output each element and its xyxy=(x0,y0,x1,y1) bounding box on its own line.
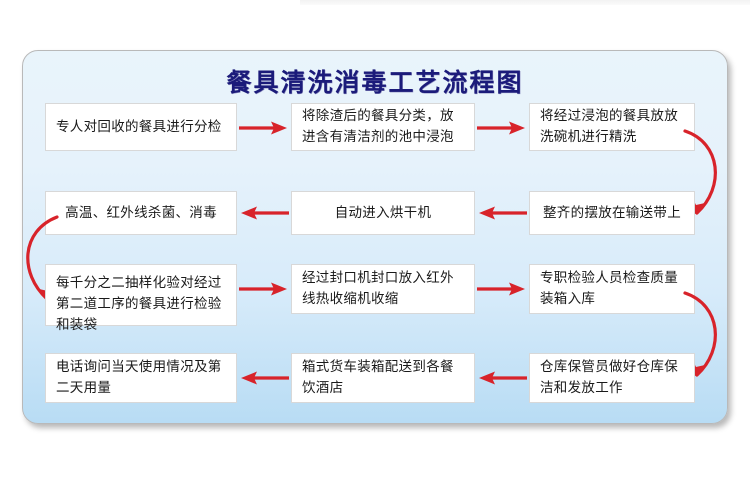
flow-node-label: 箱式货车装箱配送到各餐饮酒店 xyxy=(302,357,464,399)
flow-node-label: 仓库保管员做好仓库保洁和发放工作 xyxy=(540,357,684,399)
flow-node-step-1[interactable]: 专人对回收的餐具进行分检 xyxy=(45,103,237,151)
flow-node-step-5[interactable]: 自动进入烘干机 xyxy=(291,191,475,235)
flow-node-label: 电话询问当天使用情况及第二天用量 xyxy=(56,357,226,399)
arrow-r3-1 xyxy=(239,278,289,300)
flow-node-label: 自动进入烘干机 xyxy=(335,203,432,224)
flow-node-label: 每千分之二抽样化验对经过第二道工序的餐具进行检验和装袋 xyxy=(56,273,226,336)
flow-node-step-12[interactable]: 电话询问当天使用情况及第二天用量 xyxy=(45,353,237,403)
flow-node-step-10[interactable]: 仓库保管员做好仓库保洁和发放工作 xyxy=(529,353,695,403)
top-decorative-band xyxy=(300,0,750,5)
flow-node-label: 专人对回收的餐具进行分检 xyxy=(56,117,222,138)
arrow-r1-1 xyxy=(239,117,289,139)
flow-node-label: 经过封口机封口放入红外线热收缩机收缩 xyxy=(302,268,464,310)
flow-node-label: 整齐的摆放在输送带上 xyxy=(543,203,681,224)
flow-node-label: 高温、红外线杀菌、消毒 xyxy=(65,203,217,224)
arrow-r3-2 xyxy=(477,278,527,300)
flow-node-label: 将除渣后的餐具分类，放进含有清洁剂的池中浸泡 xyxy=(302,106,464,148)
flow-node-step-4[interactable]: 整齐的摆放在输送带上 xyxy=(529,191,695,235)
flow-node-step-2[interactable]: 将除渣后的餐具分类，放进含有清洁剂的池中浸泡 xyxy=(291,103,475,151)
arrow-r1-2 xyxy=(477,117,527,139)
arrow-r2-1 xyxy=(239,202,289,224)
flow-node-step-8[interactable]: 经过封口机封口放入红外线热收缩机收缩 xyxy=(291,264,475,314)
arrow-r4-1 xyxy=(239,367,289,389)
flow-node-step-7[interactable]: 每千分之二抽样化验对经过第二道工序的餐具进行检验和装袋 xyxy=(45,264,237,326)
page-title: 餐具清洗消毒工艺流程图 xyxy=(23,63,727,99)
arrow-r2-2 xyxy=(477,202,527,224)
flowchart-frame: 餐具清洗消毒工艺流程图 专人对回收的餐具进行分检 将除渣后的餐具分类，放进含有清… xyxy=(22,50,728,424)
flow-node-step-11[interactable]: 箱式货车装箱配送到各餐饮酒店 xyxy=(291,353,475,403)
arrow-r4-2 xyxy=(477,367,527,389)
